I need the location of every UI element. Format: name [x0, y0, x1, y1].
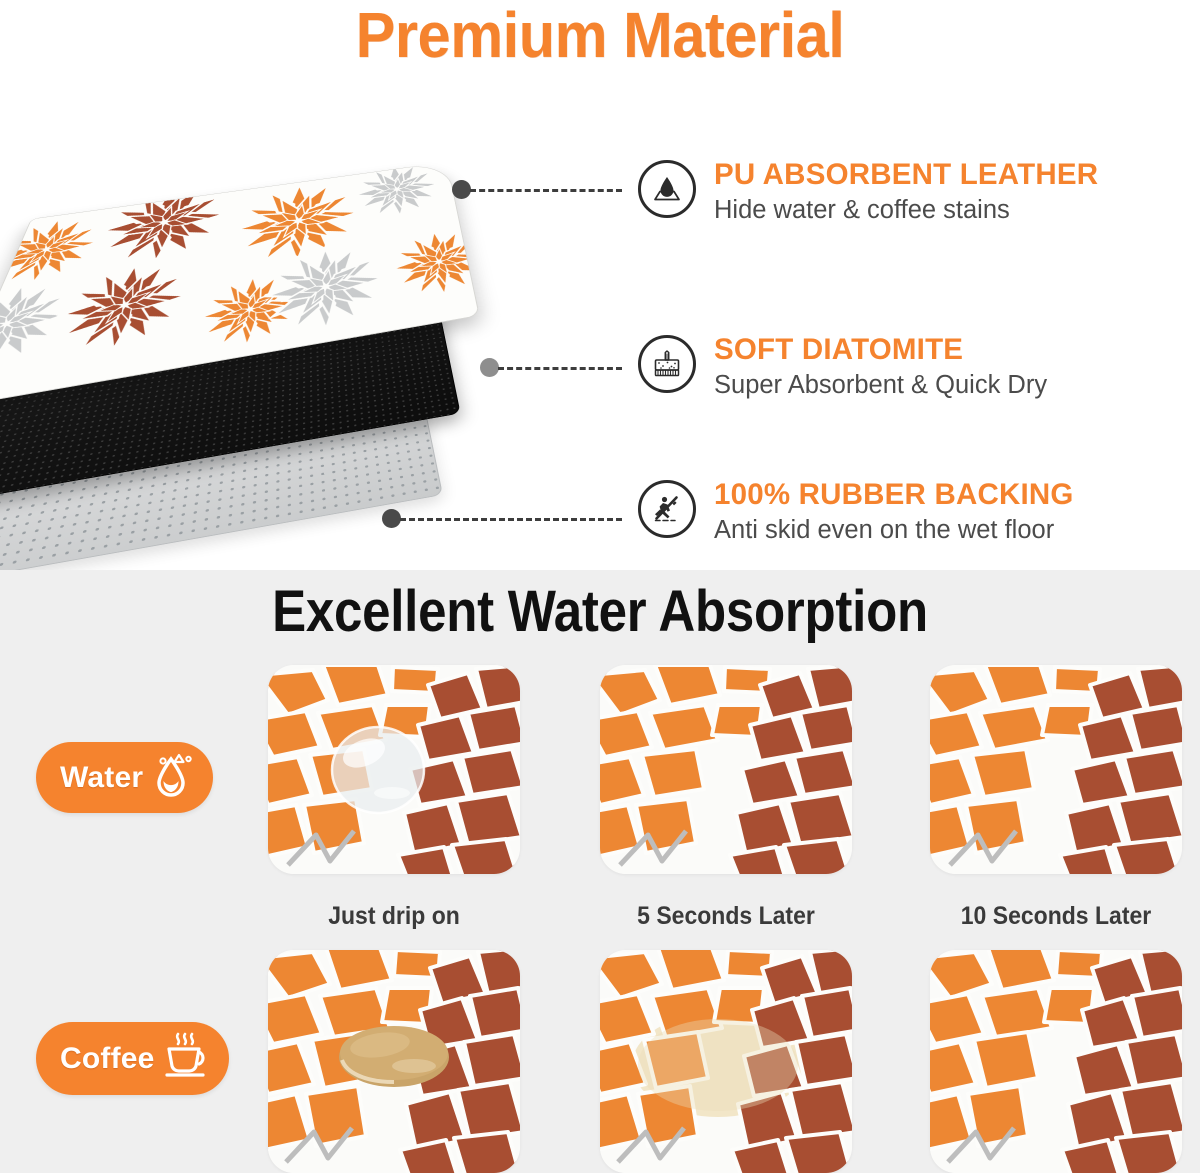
tile-coffee-step-2	[600, 950, 852, 1173]
callout-line-rubber	[400, 518, 622, 521]
water-absorption-section: Excellent Water Absorption Water	[0, 570, 1200, 1173]
feature-text-block: 100% RUBBER BACKING Anti skid even on th…	[714, 478, 1074, 547]
caption-water-step-3: 10 Seconds Later	[940, 902, 1172, 931]
tile-coffee-step-3	[930, 950, 1182, 1173]
feature-pu-absorbent-leather: PU ABSORBENT LEATHER Hide water & coffee…	[638, 158, 1098, 227]
callout-line-pu	[470, 189, 622, 192]
water-drop-icon	[149, 751, 193, 804]
coffee-cup-icon	[161, 1031, 209, 1086]
feature-subtitle: Hide water & coffee stains	[714, 195, 1098, 227]
no-slip-person-icon	[638, 480, 696, 538]
caption-water-step-2: 5 Seconds Later	[610, 902, 842, 931]
feature-text-block: PU ABSORBENT LEATHER Hide water & coffee…	[714, 158, 1098, 227]
mat-closeup-coffee-fading	[600, 950, 852, 1173]
feature-subtitle: Anti skid even on the wet floor	[714, 515, 1074, 547]
badge-label: Water	[60, 761, 143, 795]
tile-water-step-3	[930, 665, 1182, 874]
feature-rubber-backing: 100% RUBBER BACKING Anti skid even on th…	[638, 478, 1074, 547]
badge-label: Coffee	[60, 1042, 155, 1076]
tile-water-step-1	[268, 665, 520, 874]
product-infographic: Premium Material	[0, 0, 1200, 1173]
mat-closeup-absorbed	[600, 665, 852, 874]
diatomite-block-icon	[638, 335, 696, 393]
callout-dot-pu	[452, 180, 471, 199]
caption-water-step-1: Just drip on	[278, 902, 510, 931]
mat-closeup-coffee-absorbed	[930, 950, 1182, 1173]
tile-coffee-step-1	[268, 950, 520, 1173]
callout-line-diatomite	[498, 367, 622, 370]
feature-title: SOFT DIATOMITE	[714, 333, 1047, 367]
mat-closeup-with-droplet	[268, 665, 520, 874]
feature-title: PU ABSORBENT LEATHER	[714, 158, 1098, 192]
badge-water: Water	[36, 742, 213, 813]
callout-dot-rubber	[382, 509, 401, 528]
tile-water-step-2	[600, 665, 852, 874]
water-drop-on-mat-icon	[638, 160, 696, 218]
page-title: Premium Material	[42, 2, 1158, 69]
feature-soft-diatomite: SOFT DIATOMITE Super Absorbent & Quick D…	[638, 333, 1047, 402]
callout-dot-diatomite	[480, 358, 499, 377]
water-droplet	[332, 727, 424, 813]
mat-layers-illustration	[0, 82, 530, 562]
premium-material-section: Premium Material	[0, 0, 1200, 570]
coffee-spill	[339, 1026, 449, 1087]
badge-coffee: Coffee	[36, 1022, 229, 1095]
section-title: Excellent Water Absorption	[72, 582, 1128, 643]
feature-text-block: SOFT DIATOMITE Super Absorbent & Quick D…	[714, 333, 1047, 402]
mat-closeup-dry	[930, 665, 1182, 874]
feature-title: 100% RUBBER BACKING	[714, 478, 1074, 512]
mat-closeup-coffee-spill	[268, 950, 520, 1173]
feature-subtitle: Super Absorbent & Quick Dry	[714, 370, 1047, 402]
